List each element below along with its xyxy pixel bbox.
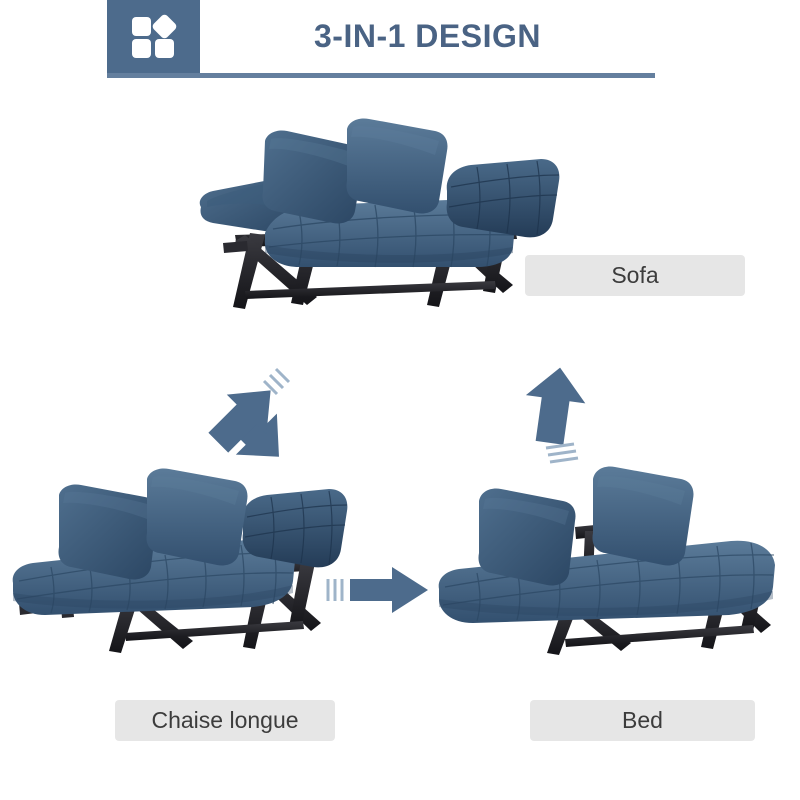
arrow-bed-to-sofa: [500, 365, 610, 480]
arrow-up-body: [520, 363, 590, 447]
arrow-diag-motion-lines: [264, 369, 289, 394]
arrow-up-motion-lines: [546, 444, 578, 462]
header-icon-block: [107, 0, 200, 73]
product-image-sofa: [195, 115, 565, 320]
four-tile-grid-icon: [132, 15, 176, 59]
product-image-chaise-longue: [5, 455, 350, 660]
grid-tile-top-right-diamond: [151, 13, 178, 40]
grid-tile-bottom-right: [155, 39, 174, 58]
sofa-right-armrest: [447, 159, 560, 237]
header-banner: 3-IN-1 DESIGN: [0, 0, 800, 90]
label-bed: Bed: [530, 700, 755, 741]
label-chaise-longue: Chaise longue: [115, 700, 335, 741]
product-image-bed: [435, 455, 790, 660]
page-title: 3-IN-1 DESIGN: [200, 0, 655, 73]
arrow-right-motion-lines: [328, 579, 342, 601]
grid-tile-top-left: [132, 17, 151, 36]
arrow-sofa-to-chaise: [190, 365, 310, 465]
header-underline-rule: [107, 73, 655, 78]
sofa-illustration: [195, 115, 565, 320]
grid-tile-bottom-left: [132, 39, 151, 58]
arrow-chaise-to-bed: [320, 565, 435, 615]
chaise-longue-illustration: [5, 455, 350, 660]
label-sofa: Sofa: [525, 255, 745, 296]
arrow-right-body: [350, 567, 428, 613]
bed-illustration: [435, 455, 790, 660]
